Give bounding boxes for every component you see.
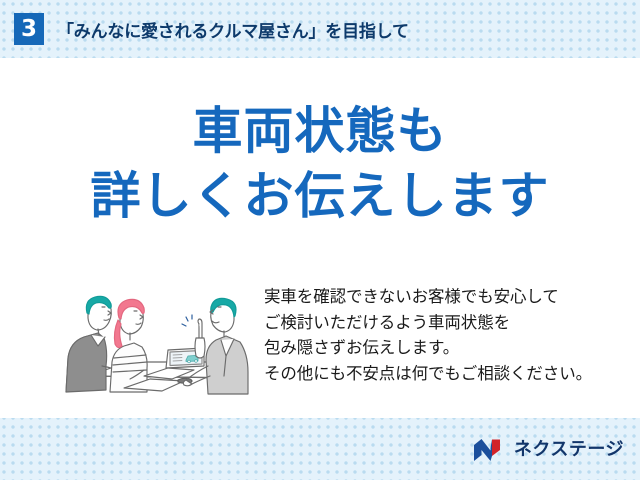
lower-section: 実車を確認できないお客様でも安心して ご検討いただけるよう車両状態を 包み隠さず… [0, 270, 640, 410]
content-card: 車両状態も 詳しくお伝えします [0, 58, 640, 418]
consultation-illustration [58, 280, 254, 400]
speech-sparkle-icon [182, 315, 192, 326]
body-line-1: 実車を確認できないお客様でも安心して [264, 284, 624, 310]
body-copy: 実車を確認できないお客様でも安心して ご検討いただけるよう車両状態を 包み隠さず… [264, 284, 624, 386]
brand-name: ネクステージ [514, 441, 624, 459]
body-line-3: 包み隠さずお伝えします。 [264, 335, 624, 361]
body-line-2: ご検討いただけるよう車両状態を [264, 310, 624, 336]
promo-banner: 3 「みんなに愛されるクルマ屋さん」を目指して 車両状態も 詳しくお伝えします [0, 0, 640, 480]
headline-line-2: 詳しくお伝えします [0, 167, 640, 226]
step-number-badge: 3 [14, 13, 44, 45]
consultation-illustration-svg [58, 280, 254, 400]
nextage-n-mark-icon [473, 438, 507, 462]
headline-line-1: 車両状態も [0, 102, 640, 161]
brand-logo: ネクステージ [473, 438, 624, 462]
banner-header: 3 「みんなに愛されるクルマ屋さん」を目指して [0, 0, 640, 58]
body-line-4: その他にも不安点は何でもご相談ください。 [264, 361, 624, 387]
header-title: 「みんなに愛されるクルマ屋さん」を目指して [57, 17, 409, 42]
headline: 車両状態も 詳しくお伝えします [0, 102, 640, 226]
banner-footer: ネクステージ [0, 418, 640, 480]
